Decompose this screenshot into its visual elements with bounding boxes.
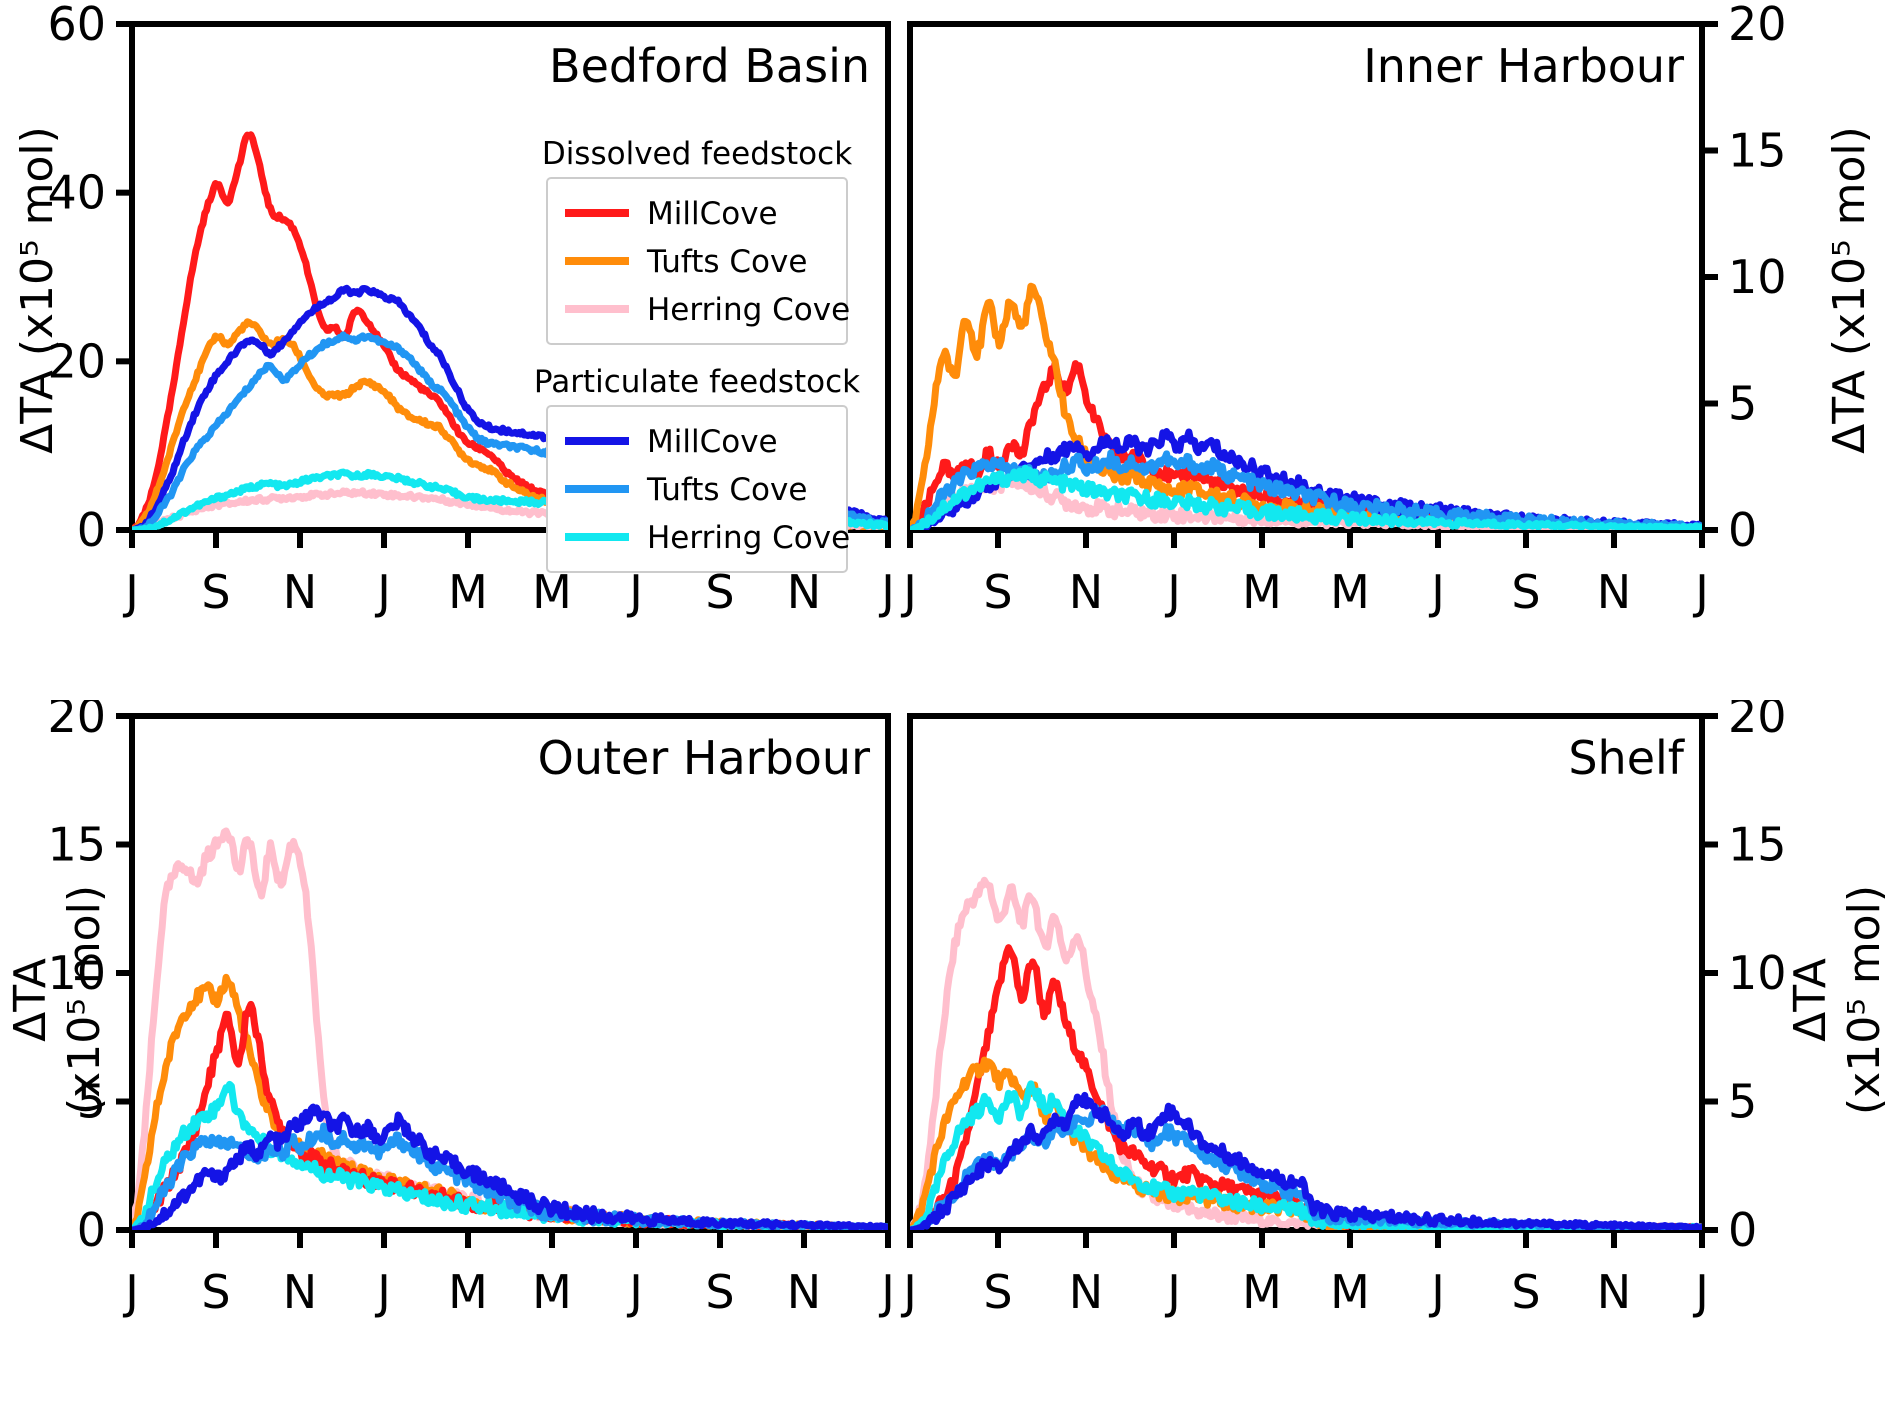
legend: Dissolved feedstockMillCoveTufts CoveHer… <box>0 0 1892 1402</box>
legend-label: MillCove <box>647 424 778 460</box>
figure-root: 0204060JSNJMMJSNJBedford Basin05101520JS… <box>0 0 1892 1402</box>
legend-title-particulate: Particulate feedstock <box>534 364 860 400</box>
legend-label: MillCove <box>647 196 778 232</box>
legend-title-dissolved: Dissolved feedstock <box>542 136 852 172</box>
legend-block-particulate: MillCoveTufts CoveHerring Cove <box>547 406 850 572</box>
legend-label: Tufts Cove <box>646 244 807 280</box>
legend-block-dissolved: MillCoveTufts CoveHerring Cove <box>547 178 850 344</box>
legend-label: Herring Cove <box>647 520 850 556</box>
legend-label: Herring Cove <box>647 292 850 328</box>
legend-label: Tufts Cove <box>646 472 807 508</box>
